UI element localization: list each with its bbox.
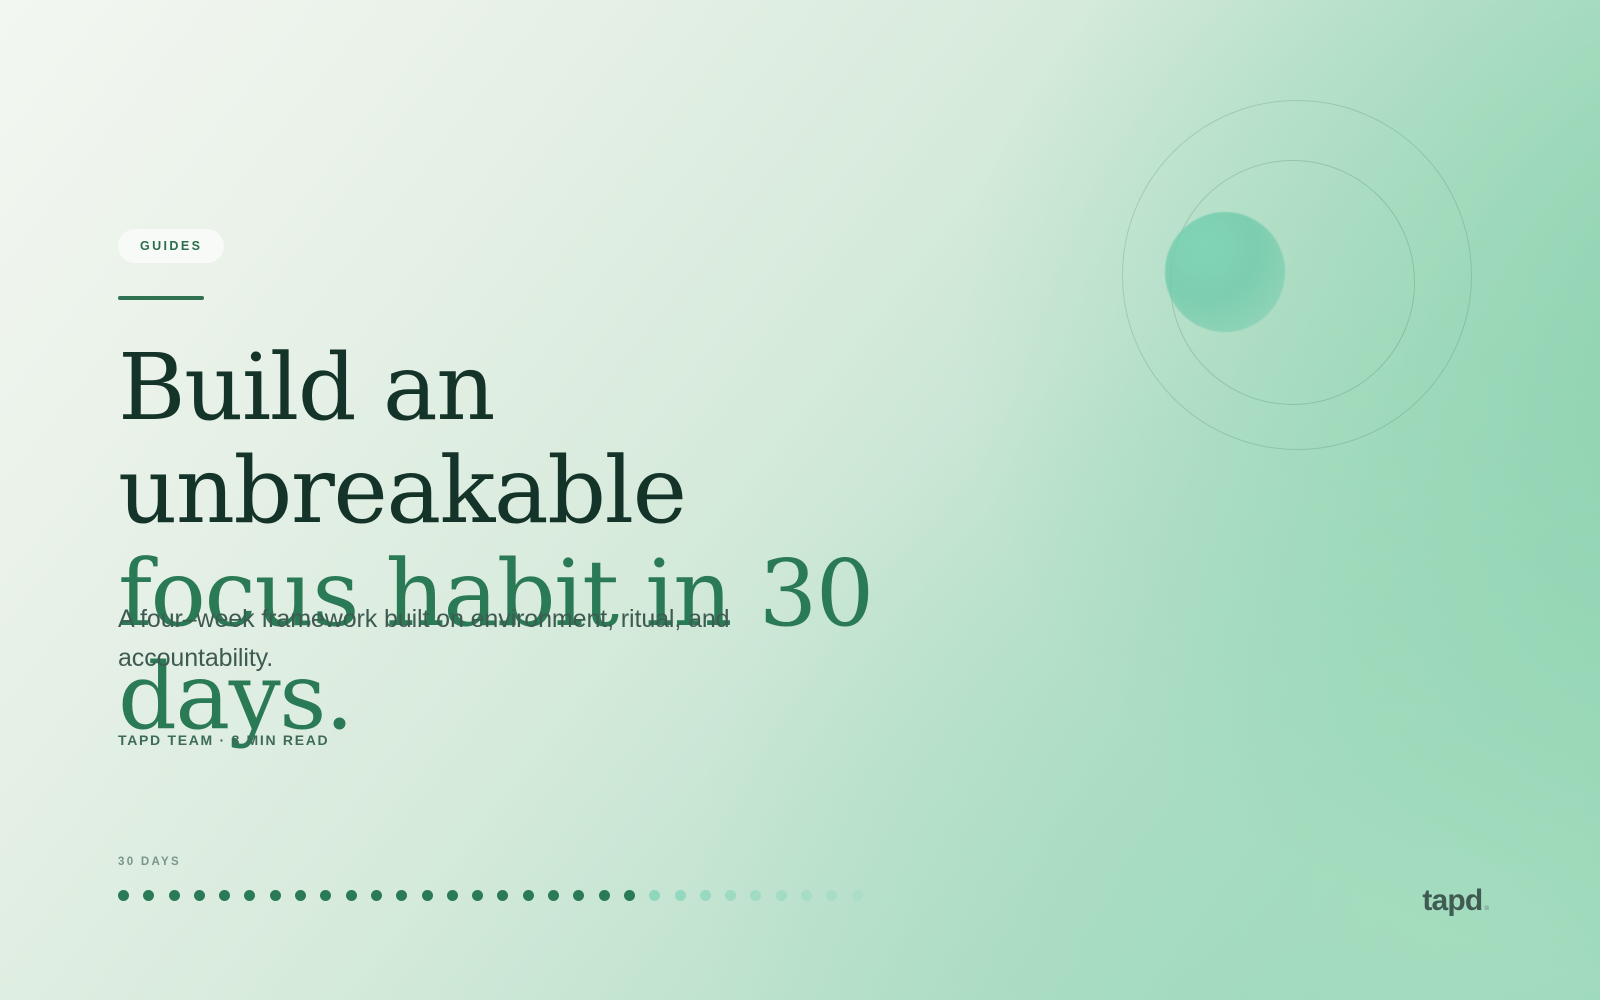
category-badge[interactable]: GUIDES: [118, 229, 224, 263]
progress-dot-12[interactable]: [396, 890, 407, 901]
progress-dot-13[interactable]: [422, 890, 433, 901]
progress-dot-15[interactable]: [472, 890, 483, 901]
progress-dot-5[interactable]: [219, 890, 230, 901]
progress-dot-30[interactable]: [852, 890, 863, 901]
progress-dot-26[interactable]: [750, 890, 761, 901]
accent-rule-divider: [118, 296, 204, 300]
progress-dot-17[interactable]: [523, 890, 534, 901]
progress-label: 30 DAYS: [118, 856, 181, 868]
progress-dot-1[interactable]: [118, 890, 129, 901]
page-title: Build an unbreakable focus habit in 30 d…: [118, 336, 998, 748]
hero-canvas: GUIDES Build an unbreakable focus habit …: [0, 0, 1600, 1000]
progress-dot-20[interactable]: [599, 890, 610, 901]
progress-dot-2[interactable]: [143, 890, 154, 901]
progress-dot-3[interactable]: [169, 890, 180, 901]
brand-wordmark: tapd: [1422, 884, 1482, 918]
progress-dots[interactable]: [118, 890, 863, 901]
decorative-gradient-orb-icon: [1165, 212, 1285, 332]
progress-dot-4[interactable]: [194, 890, 205, 901]
decorative-outer-ring-icon: [1122, 100, 1472, 450]
brand-logo[interactable]: tapd .: [1422, 884, 1490, 918]
decorative-inner-ring-icon: [1170, 160, 1415, 405]
progress-dot-18[interactable]: [548, 890, 559, 901]
progress-dot-21[interactable]: [624, 890, 635, 901]
progress-dot-11[interactable]: [371, 890, 382, 901]
progress-dot-19[interactable]: [573, 890, 584, 901]
progress-dot-6[interactable]: [244, 890, 255, 901]
progress-dot-9[interactable]: [320, 890, 331, 901]
progress-dot-28[interactable]: [801, 890, 812, 901]
page-subtitle: A four–week framework built on environme…: [118, 600, 818, 678]
progress-dot-25[interactable]: [725, 890, 736, 901]
byline-meta: TAPD TEAM · 8 MIN READ: [118, 732, 329, 748]
progress-dot-7[interactable]: [270, 890, 281, 901]
headline-line-1: Build an unbreakable: [118, 336, 998, 542]
brand-mark-dot-icon: .: [1482, 884, 1490, 918]
progress-dot-8[interactable]: [295, 890, 306, 901]
progress-dot-16[interactable]: [497, 890, 508, 901]
progress-dot-10[interactable]: [346, 890, 357, 901]
progress-dot-23[interactable]: [675, 890, 686, 901]
progress-dot-22[interactable]: [649, 890, 660, 901]
progress-dot-29[interactable]: [826, 890, 837, 901]
progress-dot-27[interactable]: [776, 890, 787, 901]
progress-dot-24[interactable]: [700, 890, 711, 901]
progress-dot-14[interactable]: [447, 890, 458, 901]
